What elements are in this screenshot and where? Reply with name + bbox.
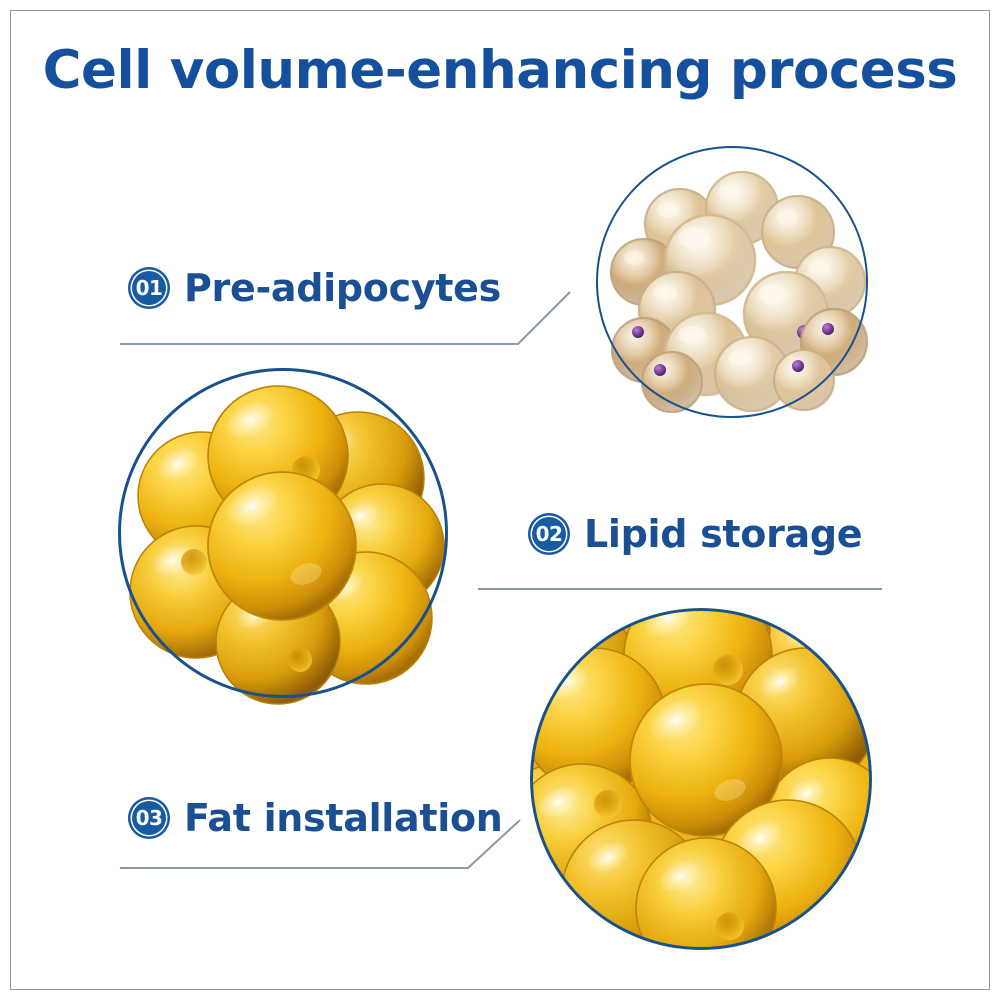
- connector-01: [120, 280, 590, 360]
- step-title-02: Lipid storage: [584, 512, 862, 556]
- lipid-storage-cluster-illustration: [110, 360, 456, 706]
- pre-adipocyte-svg: [582, 132, 882, 432]
- connector-02: [478, 584, 884, 594]
- pre-adipocytes-circle: [596, 146, 868, 418]
- connector-03: [120, 808, 530, 888]
- fat-installation-circle: [530, 608, 872, 950]
- page-title: Cell volume-enhancing process: [0, 40, 1000, 101]
- infographic-page: Cell volume-enhancing process: [0, 0, 1000, 1000]
- step-badge-02: 02: [528, 513, 570, 555]
- fat-installation-cluster-illustration: [530, 608, 872, 950]
- lipid-storage-svg: [110, 360, 456, 706]
- step-number-02: 02: [536, 524, 563, 544]
- lipid-storage-circle: [118, 368, 448, 698]
- step-label-02: 02 Lipid storage: [528, 512, 862, 556]
- pre-adipocyte-cluster-illustration: [582, 132, 882, 432]
